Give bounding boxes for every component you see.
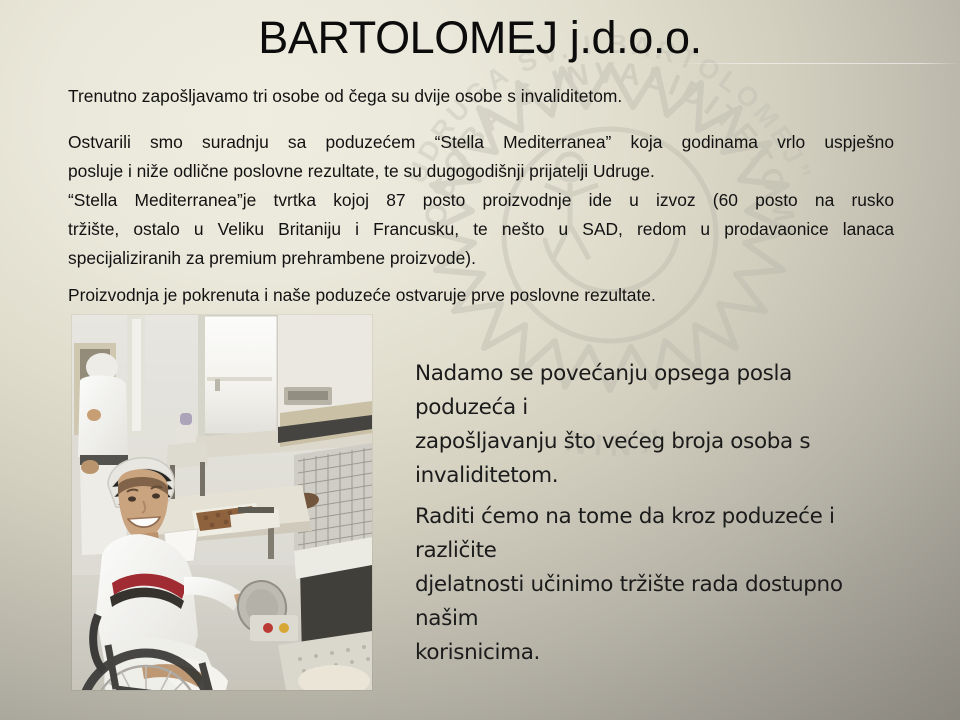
paragraph-production: Proizvodnja je pokrenuta i naše poduzeće… xyxy=(68,281,894,310)
food-production-workshop-photo xyxy=(72,315,372,690)
paragraph-intro: Trenutno zapošljavamo tri osobe od čega … xyxy=(68,82,894,111)
photo-illustration xyxy=(72,315,372,690)
paragraph-intro-text: Trenutno zapošljavamo tri osobe od čega … xyxy=(68,86,622,106)
paragraph-production-text: Proizvodnja je pokrenuta i naše poduzeće… xyxy=(68,285,656,305)
paragraph-stella-line-1: Ostvarili smo suradnju sa poduzećem “Ste… xyxy=(68,128,894,157)
side-paragraph-plans-line-1: Raditi ćemo na tome da kroz poduzeće i r… xyxy=(415,500,895,568)
paragraph-stella-line-2: posluje i niže odlične poslovne rezultat… xyxy=(68,157,894,186)
side-paragraph-plans: Raditi ćemo na tome da kroz poduzeće i r… xyxy=(415,500,895,670)
side-paragraph-hopes-line-1: Nadamo se povećanju opsega posla poduzeć… xyxy=(415,357,895,425)
page-title: BARTOLOMEJ j.d.o.o. xyxy=(0,13,960,63)
side-paragraph-hopes: Nadamo se povećanju opsega posla poduzeć… xyxy=(415,357,895,493)
paragraph-stella-line-3: “Stella Mediterranea”je tvrtka kojoj 87 … xyxy=(68,186,894,215)
side-paragraph-hopes-line-3: invaliditetom. xyxy=(415,459,895,493)
side-paragraph-plans-line-3: korisnicima. xyxy=(415,636,895,670)
presentation-slide: OSOBA S INVALIDITETOM UDRUGA SV. I BARTO… xyxy=(0,0,960,720)
paragraph-stella-line-4: tržište, ostalo u Veliku Britaniju i Fra… xyxy=(68,215,894,244)
side-paragraph-plans-line-2: djelatnosti učinimo tržište rada dostupn… xyxy=(415,568,895,636)
side-paragraph-hopes-line-2: zapošljavanju što većeg broja osoba s xyxy=(415,425,895,459)
paragraph-stella: Ostvarili smo suradnju sa poduzećem “Ste… xyxy=(68,128,894,273)
title-divider xyxy=(0,63,960,64)
paragraph-stella-line-5: specijaliziranih za premium prehrambene … xyxy=(68,244,894,273)
